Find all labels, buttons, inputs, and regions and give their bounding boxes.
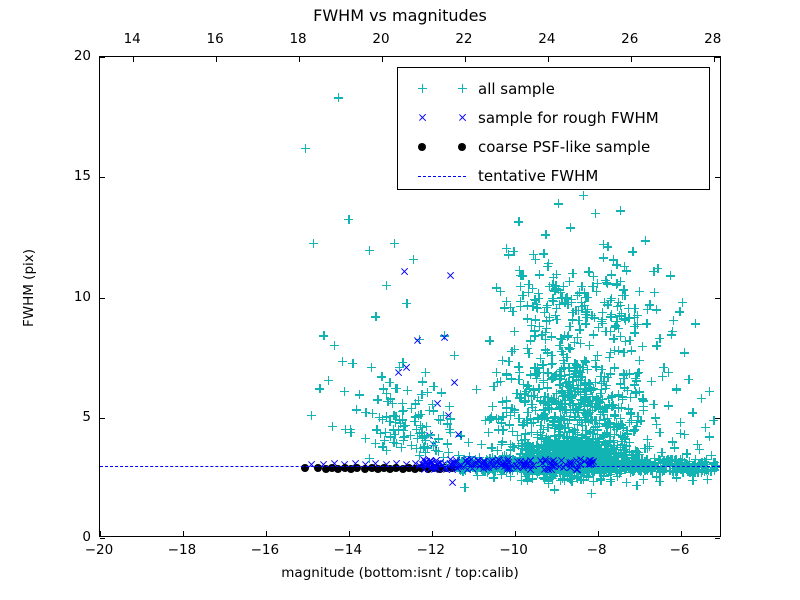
data-point-+ — [411, 399, 420, 408]
data-point-+ — [600, 456, 609, 465]
data-point-+ — [523, 381, 532, 390]
data-point-+ — [618, 463, 627, 472]
data-point-+ — [610, 363, 619, 372]
data-point-x — [440, 333, 449, 342]
data-point-+ — [575, 460, 584, 469]
data-point-+ — [591, 378, 600, 387]
data-point-+ — [605, 400, 614, 409]
data-point-+ — [583, 451, 592, 460]
data-point-+ — [516, 282, 525, 291]
data-point-+ — [641, 236, 650, 245]
data-point-+ — [627, 346, 636, 355]
x-tick-label-bottom: −6 — [670, 542, 690, 558]
data-point-+ — [590, 447, 599, 456]
data-point-+ — [602, 467, 611, 476]
data-point-+ — [562, 432, 571, 441]
data-point-+ — [556, 374, 565, 383]
data-point-+ — [539, 425, 548, 434]
data-point-+ — [579, 408, 588, 417]
data-point-+ — [560, 412, 569, 421]
data-point-+ — [535, 322, 544, 331]
data-point-+ — [559, 466, 568, 475]
data-point-+ — [562, 353, 571, 362]
y-tick-right — [715, 298, 720, 299]
x-tick-bottom — [183, 531, 184, 536]
data-point-+ — [566, 457, 575, 466]
data-point-+ — [418, 432, 427, 441]
data-point-+ — [551, 467, 560, 476]
data-point-+ — [598, 395, 607, 404]
data-point-+ — [604, 450, 613, 459]
data-point-+ — [546, 446, 555, 455]
data-point-+ — [620, 432, 629, 441]
data-point-+ — [544, 439, 553, 448]
data-point-+ — [643, 466, 652, 475]
data-point-+ — [526, 336, 535, 345]
legend-dot-icon — [418, 143, 426, 151]
data-point-+ — [620, 314, 629, 323]
data-point-x — [536, 456, 545, 465]
data-point-+ — [632, 422, 641, 431]
data-point-+ — [601, 276, 610, 285]
data-point-+ — [573, 448, 582, 457]
data-point-+ — [533, 469, 542, 478]
data-point-+ — [558, 386, 567, 395]
data-point-+ — [554, 453, 563, 462]
data-point-+ — [583, 365, 592, 374]
data-point-+ — [632, 450, 641, 459]
data-point-+ — [613, 456, 622, 465]
data-point-+ — [643, 444, 652, 453]
data-point-+ — [515, 463, 524, 472]
data-point-+ — [630, 322, 639, 331]
data-point-+ — [542, 324, 551, 333]
data-point-+ — [606, 445, 615, 454]
data-point-+ — [574, 445, 583, 454]
data-point-+ — [548, 420, 557, 429]
y-tick-right — [715, 538, 720, 539]
data-point-+ — [574, 457, 583, 466]
data-point-+ — [546, 462, 555, 471]
data-point-+ — [416, 410, 425, 419]
data-point-+ — [481, 416, 490, 425]
legend-entry: all sample — [406, 74, 701, 103]
data-point-+ — [575, 449, 584, 458]
data-point-+ — [573, 430, 582, 439]
data-point-+ — [553, 442, 562, 451]
data-point-+ — [589, 477, 598, 486]
data-point-+ — [572, 446, 581, 455]
data-point-+ — [620, 291, 629, 300]
data-point-+ — [564, 390, 573, 399]
data-point-+ — [487, 412, 496, 421]
data-point-+ — [706, 467, 715, 476]
x-tick-top — [465, 57, 466, 62]
data-point-+ — [570, 455, 579, 464]
data-point-+ — [603, 414, 612, 423]
data-point-+ — [610, 443, 619, 452]
data-point-+ — [446, 414, 455, 423]
data-point-+ — [571, 455, 580, 464]
data-point-+ — [565, 455, 574, 464]
data-point-+ — [682, 449, 691, 458]
data-point-+ — [563, 455, 572, 464]
x-tick-bottom — [598, 531, 599, 536]
data-point-+ — [610, 452, 619, 461]
x-tick-label-top: 16 — [207, 31, 224, 47]
data-point-+ — [547, 466, 556, 475]
data-point-+ — [591, 422, 600, 431]
data-point-+ — [577, 460, 586, 469]
y-tick — [100, 177, 105, 178]
data-point-+ — [525, 453, 534, 462]
data-point-+ — [517, 393, 526, 402]
data-point-+ — [562, 468, 571, 477]
data-point-+ — [560, 396, 569, 405]
data-point-+ — [616, 277, 625, 286]
data-point-+ — [605, 460, 614, 469]
data-point-+ — [602, 441, 611, 450]
data-point-+ — [517, 436, 526, 445]
data-point-+ — [568, 392, 577, 401]
data-point-+ — [557, 441, 566, 450]
data-point-+ — [436, 416, 445, 425]
data-point-+ — [543, 368, 552, 377]
data-point-+ — [683, 460, 692, 469]
data-point-+ — [603, 279, 612, 288]
data-point-+ — [617, 420, 626, 429]
data-point-+ — [532, 448, 541, 457]
data-point-+ — [597, 379, 606, 388]
data-point-+ — [628, 467, 637, 476]
data-point-+ — [588, 467, 597, 476]
data-point-+ — [558, 454, 567, 463]
data-point-+ — [523, 475, 532, 484]
data-point-+ — [538, 360, 547, 369]
data-point-+ — [570, 359, 579, 368]
data-point-+ — [668, 437, 677, 446]
data-point-+ — [606, 475, 615, 484]
data-point-+ — [573, 436, 582, 445]
data-point-+ — [574, 387, 583, 396]
data-point-+ — [579, 448, 588, 457]
data-point-+ — [621, 456, 630, 465]
data-point-+ — [505, 420, 514, 429]
data-point-+ — [578, 452, 587, 461]
data-point-+ — [578, 421, 587, 430]
data-point-+ — [604, 441, 613, 450]
data-point-+ — [564, 468, 573, 477]
data-point-+ — [566, 460, 575, 469]
data-point-+ — [638, 342, 647, 351]
data-point-+ — [585, 447, 594, 456]
data-point-+ — [506, 466, 515, 475]
data-point-+ — [508, 455, 517, 464]
data-point-+ — [581, 426, 590, 435]
data-point-+ — [514, 217, 523, 226]
data-point-+ — [340, 387, 349, 396]
data-point-+ — [416, 444, 425, 453]
data-point-+ — [546, 455, 555, 464]
data-point-+ — [560, 442, 569, 451]
data-point-+ — [555, 464, 564, 473]
data-point-+ — [535, 457, 544, 466]
data-point-+ — [516, 390, 525, 399]
data-point-+ — [544, 403, 553, 412]
data-point-+ — [609, 449, 618, 458]
data-point-x — [566, 463, 575, 472]
data-point-x — [549, 456, 558, 465]
data-point-+ — [543, 383, 552, 392]
data-point-+ — [552, 270, 561, 279]
data-point-+ — [542, 451, 551, 460]
data-point-+ — [461, 466, 470, 475]
data-point-+ — [618, 395, 627, 404]
data-point-+ — [365, 454, 374, 463]
data-point-+ — [555, 445, 564, 454]
data-point-+ — [542, 316, 551, 325]
data-point-+ — [550, 424, 559, 433]
data-point-+ — [550, 449, 559, 458]
data-point-+ — [612, 317, 621, 326]
data-point-+ — [682, 463, 691, 472]
data-point-+ — [568, 455, 577, 464]
data-point-+ — [672, 384, 681, 393]
data-point-+ — [528, 302, 537, 311]
data-point-+ — [529, 446, 538, 455]
data-point-+ — [561, 379, 570, 388]
data-point-+ — [540, 442, 549, 451]
data-point-+ — [634, 466, 643, 475]
data-point-+ — [550, 456, 559, 465]
data-point-+ — [599, 463, 608, 472]
data-point-+ — [525, 457, 534, 466]
data-point-+ — [701, 423, 710, 432]
data-point-+ — [616, 467, 625, 476]
data-point-+ — [537, 412, 546, 421]
data-point-+ — [543, 438, 552, 447]
data-point-+ — [533, 304, 542, 313]
data-point-+ — [653, 264, 662, 273]
data-point-+ — [574, 445, 583, 454]
x-tick-label-top: 26 — [621, 31, 638, 47]
data-point-+ — [605, 452, 614, 461]
data-point-+ — [597, 385, 606, 394]
data-point-+ — [678, 468, 687, 477]
data-point-+ — [577, 455, 586, 464]
data-point-+ — [568, 463, 577, 472]
data-point-+ — [687, 467, 696, 476]
data-point-x — [446, 460, 455, 469]
data-point-+ — [708, 463, 717, 472]
data-point-+ — [564, 423, 573, 432]
data-point-+ — [561, 468, 570, 477]
data-point-+ — [619, 453, 628, 462]
data-point-+ — [562, 467, 571, 476]
data-point-+ — [565, 415, 574, 424]
data-point-+ — [556, 288, 565, 297]
data-point-+ — [548, 441, 557, 450]
data-point-+ — [659, 456, 668, 465]
data-point-+ — [606, 453, 615, 462]
data-point-x — [463, 455, 472, 464]
data-point-+ — [672, 385, 681, 394]
data-point-+ — [595, 397, 604, 406]
data-point-+ — [637, 455, 646, 464]
data-point-+ — [373, 395, 382, 404]
data-point-+ — [697, 468, 706, 477]
data-point-+ — [575, 415, 584, 424]
data-point-+ — [328, 422, 337, 431]
data-point-+ — [538, 448, 547, 457]
data-point-x — [482, 463, 491, 472]
data-point-+ — [617, 457, 626, 466]
data-point-+ — [521, 452, 530, 461]
data-point-+ — [382, 412, 391, 421]
data-point-+ — [578, 450, 587, 459]
data-point-+ — [541, 454, 550, 463]
data-point-+ — [614, 390, 623, 399]
data-point-+ — [691, 455, 700, 464]
data-point-+ — [568, 428, 577, 437]
data-point-+ — [547, 395, 556, 404]
data-point-+ — [673, 467, 682, 476]
data-point-+ — [532, 303, 541, 312]
data-point-+ — [585, 457, 594, 466]
legend-cross-icon — [418, 113, 427, 122]
data-point-+ — [450, 351, 459, 360]
data-point-x — [473, 456, 482, 465]
data-point-+ — [627, 416, 636, 425]
data-point-+ — [454, 456, 463, 465]
data-point-+ — [624, 304, 633, 313]
data-point-+ — [606, 466, 615, 475]
data-point-+ — [515, 393, 524, 402]
data-point-+ — [559, 391, 568, 400]
data-point-+ — [711, 463, 720, 472]
data-point-+ — [652, 420, 661, 429]
data-point-+ — [590, 450, 599, 459]
data-point-+ — [702, 455, 711, 464]
legend-plus-icon — [458, 84, 467, 93]
data-point-+ — [593, 430, 602, 439]
data-point-x — [521, 457, 530, 466]
data-point-+ — [564, 447, 573, 456]
data-point-x — [461, 456, 470, 465]
data-point-+ — [593, 422, 602, 431]
data-point-+ — [599, 432, 608, 441]
data-point-+ — [589, 330, 598, 339]
data-point-+ — [562, 378, 571, 387]
x-tick-top — [133, 57, 134, 62]
data-point-+ — [673, 460, 682, 469]
data-point-+ — [552, 460, 561, 469]
data-point-+ — [601, 463, 610, 472]
data-point-+ — [602, 404, 611, 413]
data-point-+ — [558, 441, 567, 450]
data-point-+ — [589, 441, 598, 450]
data-point-+ — [537, 447, 546, 456]
data-point-+ — [523, 463, 532, 472]
data-point-+ — [521, 397, 530, 406]
data-point-+ — [705, 432, 714, 441]
data-point-+ — [572, 375, 581, 384]
data-point-+ — [482, 455, 491, 464]
data-point-+ — [543, 400, 552, 409]
data-point-+ — [595, 419, 604, 428]
data-point-+ — [622, 442, 631, 451]
data-point-+ — [572, 444, 581, 453]
data-point-+ — [544, 463, 553, 472]
data-point-x — [479, 457, 488, 466]
tentative-fwhm-line — [100, 466, 720, 467]
data-point-+ — [516, 302, 525, 311]
data-point-+ — [518, 441, 527, 450]
data-point-+ — [599, 463, 608, 472]
data-point-+ — [600, 466, 609, 475]
data-point-+ — [537, 456, 546, 465]
data-point-+ — [606, 444, 615, 453]
data-point-+ — [635, 387, 644, 396]
data-point-+ — [549, 417, 558, 426]
data-point-+ — [586, 453, 595, 462]
data-point-+ — [534, 368, 543, 377]
data-point-+ — [399, 436, 408, 445]
data-point-+ — [632, 447, 641, 456]
data-point-+ — [538, 448, 547, 457]
data-point-+ — [454, 456, 463, 465]
data-point-+ — [597, 444, 606, 453]
data-point-+ — [619, 450, 628, 459]
data-point-x — [426, 456, 435, 465]
data-point-+ — [516, 393, 525, 402]
data-point-x — [494, 455, 503, 464]
data-point-+ — [610, 430, 619, 439]
data-point-+ — [593, 463, 602, 472]
data-point-+ — [529, 418, 538, 427]
data-point-+ — [462, 460, 471, 469]
data-point-+ — [554, 456, 563, 465]
data-point-+ — [560, 371, 569, 380]
data-point-+ — [582, 437, 591, 446]
data-point-+ — [541, 335, 550, 344]
data-point-+ — [703, 463, 712, 472]
data-point-+ — [496, 287, 505, 296]
data-point-+ — [562, 452, 571, 461]
data-point-+ — [587, 466, 596, 475]
data-point-+ — [583, 409, 592, 418]
data-point-+ — [557, 365, 566, 374]
data-point-+ — [527, 459, 536, 468]
data-point-+ — [565, 364, 574, 373]
data-point-+ — [562, 466, 571, 475]
data-point-x — [541, 455, 550, 464]
data-point-x — [502, 460, 511, 469]
data-point-+ — [502, 371, 511, 380]
x-axis-label: magnitude (bottom:isnt / top:calib) — [0, 565, 800, 581]
data-point-+ — [541, 405, 550, 414]
data-point-+ — [509, 455, 518, 464]
y-tick — [100, 538, 105, 539]
x-tick-label-top: 20 — [372, 31, 389, 47]
data-point-x — [470, 460, 479, 469]
data-point-+ — [575, 463, 584, 472]
data-point-+ — [523, 418, 532, 427]
data-point-+ — [558, 392, 567, 401]
data-point-+ — [611, 321, 620, 330]
data-point-+ — [596, 469, 605, 478]
data-point-+ — [420, 431, 429, 440]
